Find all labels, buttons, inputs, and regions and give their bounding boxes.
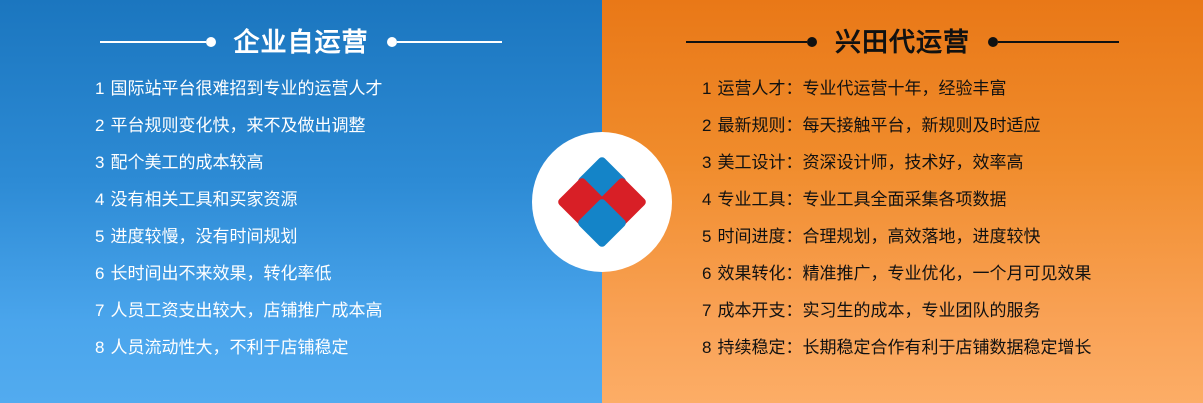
list-item-index: 5 — [95, 228, 104, 245]
list-item: 8 人员流动性大，不利于店铺稳定 — [95, 339, 482, 376]
comparison-banner: 企业自运营 1 国际站平台很难招到专业的运营人才 2 平台规则变化快，来不及做出… — [0, 0, 1203, 403]
list-item-text: 效果转化：精准推广，专业优化，一个月可见效果 — [717, 265, 1091, 282]
list-item-text: 美工设计：资深设计师，技术好，效率高 — [717, 154, 1023, 171]
list-item-text: 专业工具：专业工具全面采集各项数据 — [717, 191, 1006, 208]
list-item-index: 5 — [702, 228, 711, 245]
header-rule-left — [686, 41, 817, 43]
list-item-index: 2 — [702, 117, 711, 134]
list-item: 1 国际站平台很难招到专业的运营人才 — [95, 80, 482, 117]
list-item: 4 没有相关工具和买家资源 — [95, 191, 482, 228]
rule-dot-icon — [988, 37, 998, 47]
left-panel-header: 企业自运营 — [0, 28, 602, 56]
list-item-index: 4 — [95, 191, 104, 208]
rule-dot-icon — [206, 37, 216, 47]
list-item-index: 8 — [702, 339, 711, 356]
list-item: 5 时间进度：合理规划，高效落地，进度较快 — [702, 228, 1183, 265]
list-item-text: 最新规则：每天接触平台，新规则及时适应 — [717, 117, 1040, 134]
header-rule-left — [100, 41, 216, 43]
list-item-index: 7 — [95, 302, 104, 319]
list-item-text: 国际站平台很难招到专业的运营人才 — [110, 80, 382, 97]
list-item-index: 8 — [95, 339, 104, 356]
rule-line — [998, 41, 1119, 43]
list-item-index: 7 — [702, 302, 711, 319]
list-item: 6 效果转化：精准推广，专业优化，一个月可见效果 — [702, 265, 1183, 302]
right-panel-list: 1 运营人才：专业代运营十年，经验丰富 2 最新规则：每天接触平台，新规则及时适… — [702, 80, 1183, 376]
list-item-text: 平台规则变化快，来不及做出调整 — [110, 117, 365, 134]
list-item: 3 美工设计：资深设计师，技术好，效率高 — [702, 154, 1183, 191]
list-item: 1 运营人才：专业代运营十年，经验丰富 — [702, 80, 1183, 117]
list-item-text: 进度较慢，没有时间规划 — [110, 228, 297, 245]
list-item: 2 最新规则：每天接触平台，新规则及时适应 — [702, 117, 1183, 154]
list-item: 6 长时间出不来效果，转化率低 — [95, 265, 482, 302]
left-panel-list: 1 国际站平台很难招到专业的运营人才 2 平台规则变化快，来不及做出调整 3 配… — [95, 80, 482, 376]
rule-line — [397, 41, 503, 43]
right-panel: 兴田代运营 1 运营人才：专业代运营十年，经验丰富 2 最新规则：每天接触平台，… — [602, 0, 1203, 403]
list-item-text: 持续稳定：长期稳定合作有利于店铺数据稳定增长 — [717, 339, 1091, 356]
list-item-index: 4 — [702, 191, 711, 208]
list-item: 4 专业工具：专业工具全面采集各项数据 — [702, 191, 1183, 228]
header-rule-right — [387, 41, 503, 43]
right-panel-title: 兴田代运营 — [817, 29, 988, 55]
list-item-text: 长时间出不来效果，转化率低 — [110, 265, 331, 282]
header-rule-right — [988, 41, 1119, 43]
list-item-index: 3 — [702, 154, 711, 171]
left-panel: 企业自运营 1 国际站平台很难招到专业的运营人才 2 平台规则变化快，来不及做出… — [0, 0, 602, 403]
center-logo-badge — [532, 132, 672, 272]
left-panel-title: 企业自运营 — [216, 29, 387, 55]
list-item: 3 配个美工的成本较高 — [95, 154, 482, 191]
list-item-text: 配个美工的成本较高 — [110, 154, 263, 171]
list-item-index: 6 — [95, 265, 104, 282]
list-item-text: 人员工资支出较大，店铺推广成本高 — [110, 302, 382, 319]
four-diamond-logo-icon — [565, 162, 639, 242]
list-item: 7 成本开支：实习生的成本，专业团队的服务 — [702, 302, 1183, 339]
list-item: 7 人员工资支出较大，店铺推广成本高 — [95, 302, 482, 339]
right-panel-header: 兴田代运营 — [602, 28, 1203, 56]
rule-dot-icon — [387, 37, 397, 47]
list-item-text: 人员流动性大，不利于店铺稳定 — [110, 339, 348, 356]
list-item: 5 进度较慢，没有时间规划 — [95, 228, 482, 265]
rule-line — [100, 41, 206, 43]
list-item-index: 1 — [702, 80, 711, 97]
list-item-index: 1 — [95, 80, 104, 97]
list-item-index: 3 — [95, 154, 104, 171]
list-item-index: 6 — [702, 265, 711, 282]
rule-line — [686, 41, 807, 43]
list-item-index: 2 — [95, 117, 104, 134]
rule-dot-icon — [807, 37, 817, 47]
list-item-text: 成本开支：实习生的成本，专业团队的服务 — [717, 302, 1040, 319]
list-item: 2 平台规则变化快，来不及做出调整 — [95, 117, 482, 154]
list-item-text: 时间进度：合理规划，高效落地，进度较快 — [717, 228, 1040, 245]
list-item-text: 没有相关工具和买家资源 — [110, 191, 297, 208]
list-item-text: 运营人才：专业代运营十年，经验丰富 — [717, 80, 1006, 97]
list-item: 8 持续稳定：长期稳定合作有利于店铺数据稳定增长 — [702, 339, 1183, 376]
